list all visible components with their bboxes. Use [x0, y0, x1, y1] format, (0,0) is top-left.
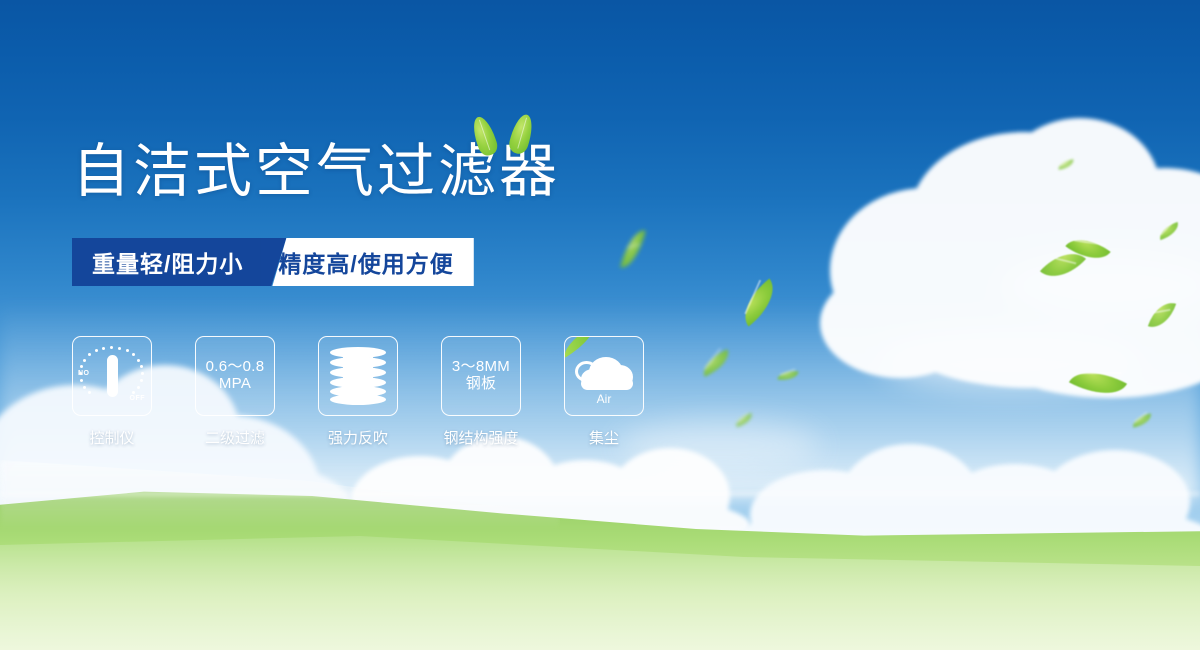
feature-icon-box: NO OFF	[72, 336, 152, 416]
feature-icon-box	[318, 336, 398, 416]
feature-item-dust-collection[interactable]: Air 集尘	[564, 336, 644, 448]
cloud-cumulus-right	[820, 108, 1200, 408]
pressure-text-icon: 0.6～0.8 MPA	[206, 359, 265, 393]
feature-item-two-stage-filter[interactable]: 0.6～0.8 MPA 二级过滤	[195, 336, 275, 448]
feature-icon-box: 0.6～0.8 MPA	[195, 336, 275, 416]
feature-item-steel-strength[interactable]: 3～8MM 钢板 钢结构强度	[441, 336, 521, 448]
steel-plate-text-icon: 3～8MM 钢板	[452, 359, 510, 393]
pressure-unit: MPA	[206, 376, 265, 393]
feature-item-controller[interactable]: NO OFF 控制仪	[72, 336, 152, 448]
feature-item-backblow[interactable]: 强力反吹	[318, 336, 398, 448]
feature-icon-box: Air	[564, 336, 644, 416]
feature-label: 强力反吹	[328, 427, 388, 448]
gauge-label-on: NO	[78, 370, 90, 377]
cloud-air-icon: Air	[573, 349, 635, 403]
gauge-icon: NO OFF	[79, 343, 145, 409]
title-leaf-pair	[473, 112, 537, 158]
feature-icon-row: NO OFF 控制仪 0.6～0.8 MPA 二级过滤	[72, 336, 644, 448]
feature-label: 二级过滤	[205, 427, 265, 448]
leaf-icon	[469, 114, 500, 158]
grass-horizon-edge	[0, 492, 1200, 498]
steel-thickness: 3～8MM	[452, 359, 510, 376]
pressure-value: 0.6～0.8	[206, 359, 265, 376]
feature-icon-box: 3～8MM 钢板	[441, 336, 521, 416]
subtitle-right-block: 精度高/使用方便	[272, 238, 473, 286]
leaf-icon	[507, 112, 536, 156]
gauge-label-off: OFF	[130, 395, 146, 402]
subtitle-bar: 重量轻/阻力小 精度高/使用方便	[72, 238, 474, 286]
subtitle-left-block: 重量轻/阻力小	[72, 238, 261, 286]
feature-label: 钢结构强度	[443, 427, 518, 448]
air-label: Air	[573, 392, 635, 406]
filter-cartridge-icon	[330, 347, 386, 405]
feature-label: 集尘	[589, 427, 619, 448]
feature-label: 控制仪	[89, 427, 134, 448]
product-banner: 自洁式空气过滤器 重量轻/阻力小 精度高/使用方便	[0, 0, 1200, 650]
steel-material: 钢板	[452, 376, 510, 393]
